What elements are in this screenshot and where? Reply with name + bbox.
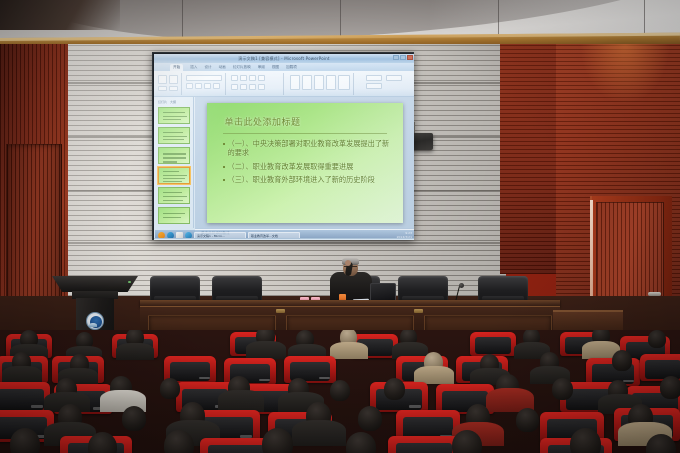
copy-icon[interactable] <box>169 86 178 91</box>
thumbnail-pane-tabs[interactable]: 幻灯片 大纲 <box>156 100 191 104</box>
projection-screen: 演示文稿1 [兼容模式] - Microsoft PowerPoint 开始 插… <box>152 52 414 240</box>
bullet-text: （一）、中央决策部署对职业教育改革发展提出了新的要求 <box>228 139 395 158</box>
tab-design[interactable]: 设计 <box>204 65 211 70</box>
bullet-marker-icon <box>223 166 225 168</box>
shape-rect-icon[interactable] <box>290 75 300 90</box>
audience-member <box>164 430 194 453</box>
auditorium-seat <box>470 332 516 356</box>
current-slide[interactable]: 单击此处添加标题 （一）、中央决策部署对职业教育改革发展提出了新的要求 （二）、… <box>207 103 403 223</box>
podium-top <box>52 276 138 292</box>
tab-addins[interactable]: 加载项 <box>286 65 297 70</box>
italic-icon[interactable] <box>195 83 202 89</box>
cut-icon[interactable] <box>158 86 167 91</box>
slide-thumbnail[interactable] <box>158 147 190 164</box>
audience-member <box>346 432 376 453</box>
ribbon-body[interactable] <box>154 71 414 97</box>
ppt-title-bar: 演示文稿1 [兼容模式] - Microsoft PowerPoint <box>154 54 414 63</box>
audience-member <box>330 380 350 401</box>
slide-thumbnail[interactable] <box>158 187 190 204</box>
list-item[interactable]: （一）、中央决策部署对职业教育改革发展提出了新的要求 <box>223 139 395 158</box>
slide-bullet-list[interactable]: （一）、中央决策部署对职业教育改革发展提出了新的要求 （二）、职业教育改革发展取… <box>223 139 395 189</box>
close-icon[interactable] <box>407 55 413 60</box>
line-spacing-icon[interactable] <box>258 75 265 81</box>
audience-torso <box>292 420 346 446</box>
speaker-hand <box>345 260 351 266</box>
audience-member <box>648 330 666 348</box>
bullet-text: （二）、职业教育改革发展取得重要进展 <box>228 162 354 172</box>
numbering-icon[interactable] <box>240 75 247 81</box>
audience-member <box>122 406 146 431</box>
podium-power-led-icon <box>128 281 131 283</box>
auditorium-seat <box>388 436 460 453</box>
audience-torso <box>218 390 264 412</box>
audience-member <box>452 430 482 453</box>
tab-home[interactable]: 开始 <box>170 64 183 71</box>
indent-icon[interactable] <box>249 75 256 81</box>
tab-insert[interactable]: 插入 <box>190 65 197 70</box>
stage-chair <box>478 276 528 303</box>
microphone-icon <box>459 283 464 288</box>
slide-edit-area[interactable]: 单击此处添加标题 （一）、中央决策部署对职业教育改革发展提出了新的要求 （二）、… <box>195 97 414 228</box>
ppt-window-title: 演示文稿1 [兼容模式] - Microsoft PowerPoint <box>238 56 329 62</box>
quick-styles-icon[interactable] <box>338 75 350 90</box>
minimize-icon[interactable] <box>393 55 399 60</box>
auditorium-seat <box>0 382 50 412</box>
slide-title-rule <box>223 133 387 134</box>
wall-light-glow <box>580 44 670 104</box>
justify-icon[interactable] <box>258 84 265 90</box>
replace-button[interactable] <box>366 83 382 89</box>
shape-circle-icon[interactable] <box>314 75 324 90</box>
audience-member <box>660 376 680 399</box>
tab-animation[interactable]: 动画 <box>219 65 226 70</box>
audience-member <box>384 378 405 400</box>
audience-member <box>552 378 573 400</box>
stage-chair <box>150 276 200 303</box>
list-item[interactable]: （三）、职业教育外部环境进入了新的历史阶段 <box>223 175 395 185</box>
powerpoint-window[interactable]: 演示文稿1 [兼容模式] - Microsoft PowerPoint 开始 插… <box>154 54 414 240</box>
slide-title[interactable]: 单击此处添加标题 <box>225 115 301 128</box>
tab-review[interactable]: 审阅 <box>258 65 265 70</box>
slide-thumbnail[interactable] <box>158 207 190 224</box>
slide-thumbnail-pane[interactable]: 幻灯片 大纲 <box>154 97 194 228</box>
font-family-dropdown[interactable] <box>186 75 222 81</box>
slide-thumbnail-selected[interactable] <box>158 167 190 184</box>
slide-thumbnail[interactable] <box>158 127 190 144</box>
bold-icon[interactable] <box>186 83 193 89</box>
audience-member <box>516 408 539 432</box>
status-bar: 幻灯片 第 4 张，共 6 张 中文(中国) 66% <box>154 238 414 240</box>
audience-torso <box>330 342 368 359</box>
find-button[interactable] <box>366 75 382 81</box>
audience-member <box>10 428 40 453</box>
ribbon-tab-bar[interactable]: 开始 插入 设计 动画 幻灯片放映 审阅 视图 加载项 <box>154 63 414 71</box>
select-button[interactable] <box>386 75 402 81</box>
tab-view[interactable]: 视图 <box>272 65 279 70</box>
auditorium-photo: 演示文稿1 [兼容模式] - Microsoft PowerPoint 开始 插… <box>0 0 680 453</box>
align-right-icon[interactable] <box>249 84 256 90</box>
list-item[interactable]: （二）、职业教育改革发展取得重要进展 <box>223 162 395 172</box>
audience-member <box>570 428 601 453</box>
align-center-icon[interactable] <box>240 84 247 90</box>
audience-torso <box>246 341 286 359</box>
stage-chair <box>212 276 262 303</box>
audience-seating <box>0 330 680 453</box>
tab-slides[interactable]: 幻灯片 <box>158 100 167 104</box>
stage-chair <box>398 276 448 303</box>
underline-icon[interactable] <box>204 83 211 89</box>
bullet-text: （三）、职业教育外部环境进入了新的历史阶段 <box>228 175 375 185</box>
tab-outline[interactable]: 大纲 <box>170 100 176 104</box>
bullet-marker-icon <box>223 179 225 181</box>
audience-member <box>262 428 293 453</box>
slide-thumbnail[interactable] <box>158 107 190 124</box>
mid-wood-panel <box>500 44 560 274</box>
arrange-icon[interactable] <box>326 75 336 90</box>
bullets-icon[interactable] <box>231 75 238 81</box>
tab-slideshow[interactable]: 幻灯片放映 <box>233 65 251 70</box>
audience-member <box>358 406 382 431</box>
maximize-icon[interactable] <box>400 55 406 60</box>
paste-icon[interactable] <box>158 75 167 84</box>
window-buttons[interactable] <box>393 55 413 60</box>
ceiling-shadow <box>0 0 120 30</box>
institution-crest-icon <box>86 312 104 330</box>
align-left-icon[interactable] <box>231 84 238 90</box>
shape-arrow-icon[interactable] <box>302 75 312 90</box>
font-color-icon[interactable] <box>213 83 220 89</box>
audience-member <box>612 350 632 371</box>
new-slide-icon[interactable] <box>169 75 178 84</box>
audience-member <box>160 378 180 399</box>
bullet-marker-icon <box>223 143 225 145</box>
audience-torso <box>116 343 154 360</box>
